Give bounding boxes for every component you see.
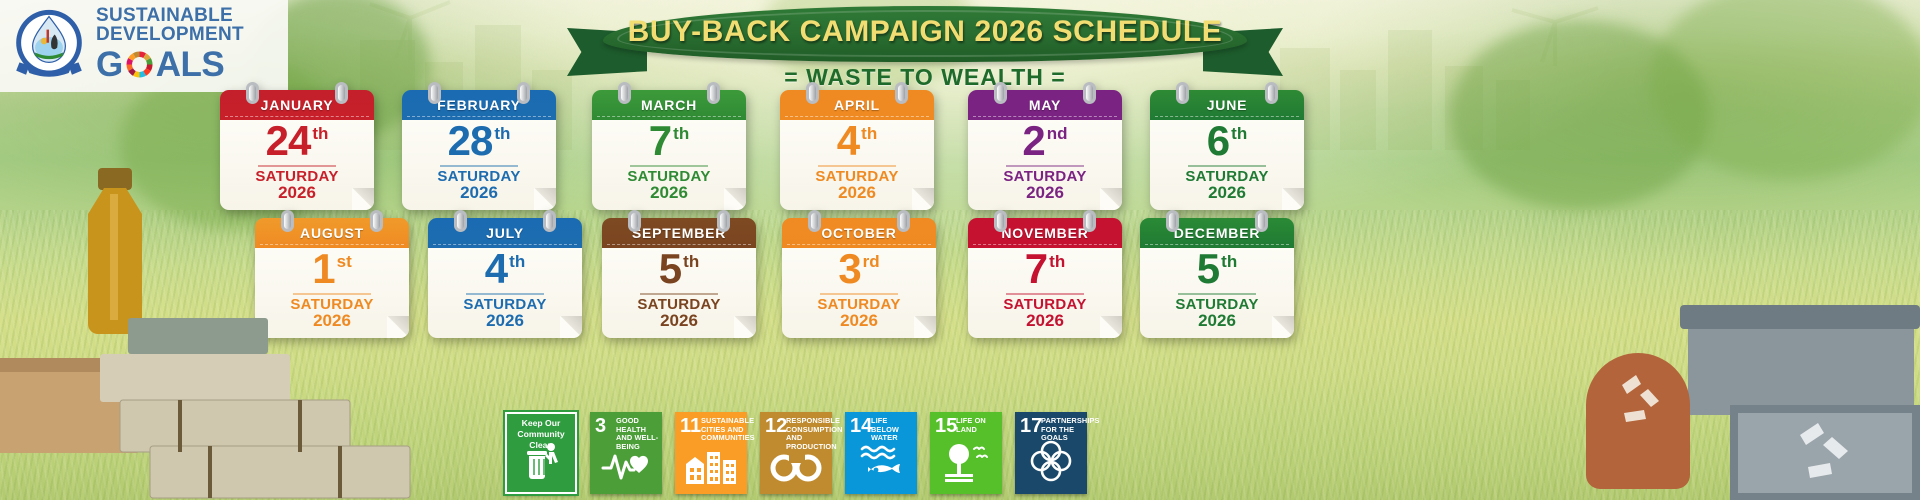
calendar-ring-right (370, 210, 383, 232)
calendar-month-header: AUGUST (255, 218, 409, 248)
calendar-ring-left (806, 82, 819, 104)
calendar-month-header: FEBRUARY (402, 90, 556, 120)
calendar-month-label: MARCH (641, 97, 697, 113)
calendar-day-row: 7th (649, 120, 689, 162)
calendar-day-number: 3 (838, 248, 860, 290)
calendar-month-header: MARCH (592, 90, 746, 120)
calendar-weekday-label: SATURDAY (290, 297, 373, 313)
calendar-day-number: 4 (837, 120, 859, 162)
calendar-ring-left (1166, 210, 1179, 232)
calendar-month-header: SEPTEMBER (602, 218, 756, 248)
calendar-ring-right (517, 82, 530, 104)
calendar-month-header: JANUARY (220, 90, 374, 120)
calendar-year-label: 2026 (838, 184, 876, 202)
badge-sdg-17[interactable]: 17PARTNERSHIPS FOR THE GOALS (1015, 412, 1087, 494)
calendar-day-ordinal: th (312, 125, 328, 142)
calendar-weekday-label: SATURDAY (1003, 169, 1086, 185)
calendar-day-row: 4th (837, 120, 877, 162)
calendar-card-february[interactable]: FEBRUARY28thSATURDAY2026 (402, 90, 556, 210)
badge-number: 11 (680, 416, 701, 436)
calendar-year-label: 2026 (660, 312, 698, 330)
calendar-ring-right (1083, 210, 1096, 232)
sdg-wordmark: SUSTAINABLE DEVELOPMENT G (96, 7, 244, 84)
badge-text: LIFE BELOW WATER (871, 417, 914, 443)
metal-bins-prop (1560, 285, 1920, 500)
calendar-card-july[interactable]: JULY4thSATURDAY2026 (428, 218, 582, 338)
calendar-weekday-label: SATURDAY (255, 169, 338, 185)
calendar-day-ordinal: th (861, 125, 877, 142)
calendar-month-label: AUGUST (300, 225, 364, 241)
calendar-ring-right (543, 210, 556, 232)
fish-waves-icon (845, 442, 917, 489)
calendar-month-label: APRIL (834, 97, 880, 113)
banner-subtitle: = WASTE TO WEALTH = (575, 64, 1275, 91)
campaign-banner: BUY-BACK CAMPAIGN 2026 SCHEDULE = WASTE … (575, 6, 1275, 92)
calendar-divider (1178, 293, 1256, 295)
calendar-day-number: 4 (485, 248, 507, 290)
calendar-divider (1006, 165, 1084, 167)
calendar-divider (258, 165, 336, 167)
calendar-weekday-label: SATURDAY (463, 297, 546, 313)
calendar-card-october[interactable]: OCTOBER3rdSATURDAY2026 (782, 218, 936, 338)
calendar-month-label: JULY (486, 225, 524, 241)
calendar-card-march[interactable]: MARCH7thSATURDAY2026 (592, 90, 746, 210)
calendar-ring-left (428, 82, 441, 104)
calendar-day-ordinal: th (1049, 253, 1065, 270)
calendar-month-label: FEBRUARY (437, 97, 521, 113)
calendar-card-january[interactable]: JANUARY24thSATURDAY2026 (220, 90, 374, 210)
calendar-body: 28thSATURDAY2026 (402, 116, 556, 210)
city-council-crest-icon (8, 5, 90, 87)
calendar-body: 4thSATURDAY2026 (428, 244, 582, 338)
calendar-body: 5thSATURDAY2026 (1140, 244, 1294, 338)
calendar-day-ordinal: th (673, 125, 689, 142)
calendar-divider (820, 293, 898, 295)
badge-sdg-11[interactable]: 11SUSTAINABLE CITIES AND COMMUNITIES (675, 412, 747, 494)
calendar-ring-left (618, 82, 631, 104)
calendar-weekday-label: SATURDAY (1185, 169, 1268, 185)
calendar-year-label: 2026 (1208, 184, 1246, 202)
calendar-month-label: JANUARY (261, 97, 334, 113)
calendar-body: 24thSATURDAY2026 (220, 116, 374, 210)
heartbeat-icon (590, 444, 662, 489)
calendar-day-number: 28 (448, 120, 493, 162)
calendar-card-june[interactable]: JUNE6thSATURDAY2026 (1150, 90, 1304, 210)
badge-number: 17 (1020, 416, 1042, 436)
litter-bin-icon (507, 438, 575, 487)
calendar-ring-right (1255, 210, 1268, 232)
cityscape-icon (675, 442, 747, 489)
calendar-day-number: 2 (1022, 120, 1044, 162)
calendar-month-label: OCTOBER (821, 225, 896, 241)
calendar-body: 3rdSATURDAY2026 (782, 244, 936, 338)
calendar-ring-right (707, 82, 720, 104)
calendar-weekday-label: SATURDAY (815, 169, 898, 185)
badge-sdg-15[interactable]: 15LIFE ON LAND (930, 412, 1002, 494)
sdg-color-wheel-icon (124, 49, 155, 80)
calendar-divider (630, 165, 708, 167)
calendar-card-september[interactable]: SEPTEMBER5thSATURDAY2026 (602, 218, 756, 338)
calendar-month-label: NOVEMBER (1001, 225, 1088, 241)
calendar-month-header: NOVEMBER (968, 218, 1122, 248)
calendar-ring-left (994, 210, 1007, 232)
calendar-month-label: SEPTEMBER (632, 225, 726, 241)
sdg-line-1: SUSTAINABLE (96, 7, 244, 25)
calendar-year-label: 2026 (1026, 312, 1064, 330)
banner-title: BUY-BACK CAMPAIGN 2026 SCHEDULE (628, 15, 1223, 49)
calendar-day-number: 5 (659, 248, 681, 290)
badge-sdg-12[interactable]: 12RESPONSIBLE CONSUMPTION AND PRODUCTION (760, 412, 832, 494)
calendar-body: 7thSATURDAY2026 (968, 244, 1122, 338)
calendar-ring-left (808, 210, 821, 232)
calendar-month-header: MAY (968, 90, 1122, 120)
calendar-divider (440, 165, 518, 167)
calendar-weekday-label: SATURDAY (1003, 297, 1086, 313)
calendar-day-row: 3rd (838, 248, 879, 290)
amber-bottle-prop (20, 160, 220, 340)
calendar-month-header: OCTOBER (782, 218, 936, 248)
calendar-month-header: JULY (428, 218, 582, 248)
calendar-ring-right (717, 210, 730, 232)
calendar-day-ordinal: st (337, 253, 352, 270)
sdg-goals-prefix: G (96, 45, 123, 85)
calendar-day-ordinal: th (509, 253, 525, 270)
calendar-day-ordinal: th (1221, 253, 1237, 270)
calendar-year-label: 2026 (1026, 184, 1064, 202)
calendar-ring-right (897, 210, 910, 232)
calendar-divider (818, 165, 896, 167)
calendar-ring-right (895, 82, 908, 104)
badge-text: RESPONSIBLE CONSUMPTION AND PRODUCTION (786, 417, 829, 451)
badge-number: 15 (935, 416, 957, 436)
calendar-weekday-label: SATURDAY (1175, 297, 1258, 313)
calendar-year-label: 2026 (460, 184, 498, 202)
sdg-badge-strip: Keep Our Community Clean3GOOD HEALTH AND… (505, 412, 1087, 494)
calendar-divider (640, 293, 718, 295)
infinity-icon (760, 452, 832, 489)
calendar-ring-left (1176, 82, 1189, 104)
calendar-day-ordinal: th (494, 125, 510, 142)
calendar-day-ordinal: nd (1047, 125, 1068, 142)
calendar-ring-right (335, 82, 348, 104)
calendar-body: 4thSATURDAY2026 (780, 116, 934, 210)
calendar-card-april[interactable]: APRIL4thSATURDAY2026 (780, 90, 934, 210)
calendar-month-header: APRIL (780, 90, 934, 120)
ribbon-body: BUY-BACK CAMPAIGN 2026 SCHEDULE (603, 6, 1247, 62)
calendar-card-november[interactable]: NOVEMBER7thSATURDAY2026 (968, 218, 1122, 338)
badge-text: LIFE ON LAND (956, 417, 999, 434)
calendar-weekday-label: SATURDAY (637, 297, 720, 313)
calendar-day-number: 1 (312, 248, 334, 290)
calendar-month-label: DECEMBER (1174, 225, 1261, 241)
badge-sdg-3[interactable]: 3GOOD HEALTH AND WELL-BEING (590, 412, 662, 494)
calendar-day-row: 2nd (1022, 120, 1067, 162)
sdg-goals-suffix: ALS (156, 45, 225, 85)
calendar-day-ordinal: rd (863, 253, 880, 270)
badge-keep-our-community-clean[interactable]: Keep Our Community Clean (505, 412, 577, 494)
badge-number: 3 (595, 416, 606, 436)
calendar-body: 1stSATURDAY2026 (255, 244, 409, 338)
calendar-year-label: 2026 (840, 312, 878, 330)
calendar-day-ordinal: th (683, 253, 699, 270)
calendar-ring-left (246, 82, 259, 104)
calendar-day-row: 7th (1025, 248, 1065, 290)
calendar-month-header: JUNE (1150, 90, 1304, 120)
calendar-ring-left (454, 210, 467, 232)
calendar-year-label: 2026 (486, 312, 524, 330)
calendar-weekday-label: SATURDAY (437, 169, 520, 185)
calendar-month-label: JUNE (1207, 97, 1248, 113)
calendar-day-row: 28th (448, 120, 511, 162)
calendar-card-december[interactable]: DECEMBER5thSATURDAY2026 (1140, 218, 1294, 338)
calendar-card-may[interactable]: MAY2ndSATURDAY2026 (968, 90, 1122, 210)
calendar-body: 7thSATURDAY2026 (592, 116, 746, 210)
badge-sdg-14[interactable]: 14LIFE BELOW WATER (845, 412, 917, 494)
calendar-day-number: 7 (1025, 248, 1047, 290)
sdg-logo-panel: SUSTAINABLE DEVELOPMENT G (0, 0, 288, 92)
interlocking-circles-icon (1015, 438, 1087, 489)
calendar-day-number: 7 (649, 120, 671, 162)
calendar-body: 5thSATURDAY2026 (602, 244, 756, 338)
calendar-month-label: MAY (1029, 97, 1061, 113)
calendar-divider (1006, 293, 1084, 295)
calendar-day-number: 6 (1207, 120, 1229, 162)
calendar-day-row: 4th (485, 248, 525, 290)
calendar-divider (293, 293, 371, 295)
calendar-body: 6thSATURDAY2026 (1150, 116, 1304, 210)
calendar-weekday-label: SATURDAY (627, 169, 710, 185)
calendar-divider (1188, 165, 1266, 167)
calendar-day-row: 5th (1197, 248, 1237, 290)
calendar-day-ordinal: th (1231, 125, 1247, 142)
sdg-line-2: DEVELOPMENT (96, 26, 244, 44)
calendar-ring-left (281, 210, 294, 232)
badge-text: SUSTAINABLE CITIES AND COMMUNITIES (701, 417, 744, 443)
calendar-ring-right (1265, 82, 1278, 104)
badge-number: 12 (765, 416, 787, 436)
tree-birds-icon (930, 440, 1002, 489)
calendar-day-row: 24th (266, 120, 329, 162)
calendar-ring-left (628, 210, 641, 232)
calendar-year-label: 2026 (313, 312, 351, 330)
calendar-day-number: 24 (266, 120, 311, 162)
calendar-year-label: 2026 (278, 184, 316, 202)
calendar-ring-left (994, 82, 1007, 104)
calendar-weekday-label: SATURDAY (817, 297, 900, 313)
calendar-card-august[interactable]: AUGUST1stSATURDAY2026 (255, 218, 409, 338)
calendar-month-header: DECEMBER (1140, 218, 1294, 248)
badge-number: 14 (850, 416, 872, 436)
calendar-body: 2ndSATURDAY2026 (968, 116, 1122, 210)
calendar-ring-right (1083, 82, 1096, 104)
calendar-day-row: 5th (659, 248, 699, 290)
calendar-year-label: 2026 (650, 184, 688, 202)
calendar-day-row: 6th (1207, 120, 1247, 162)
calendar-divider (466, 293, 544, 295)
calendar-day-number: 5 (1197, 248, 1219, 290)
calendar-day-row: 1st (312, 248, 351, 290)
calendar-year-label: 2026 (1198, 312, 1236, 330)
